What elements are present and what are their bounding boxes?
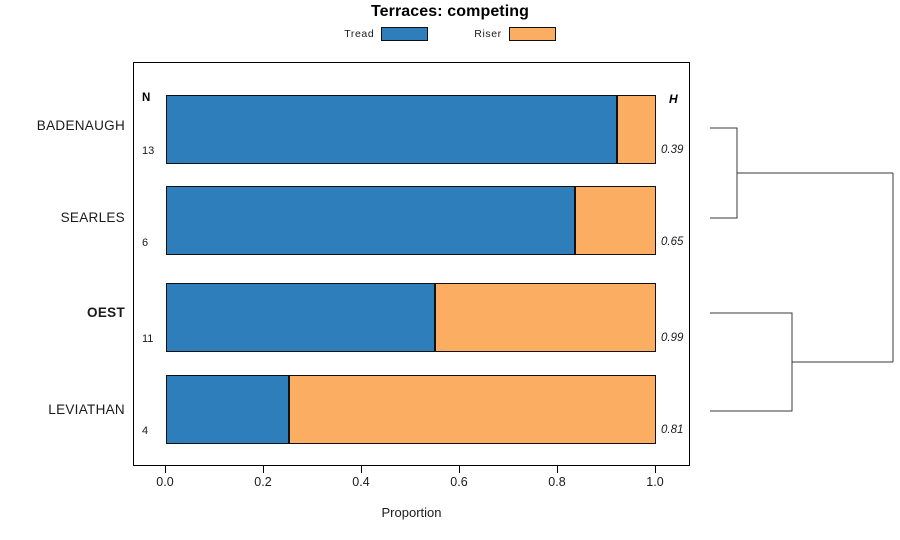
- legend-item-riser: Riser: [474, 27, 556, 41]
- table-row[interactable]: [166, 375, 656, 444]
- legend-swatch-riser: [509, 27, 556, 41]
- tick-mark-0: [165, 466, 166, 473]
- tick-label-2: 0.4: [352, 475, 369, 489]
- category-label-oest: OEST: [0, 305, 125, 320]
- n-value-leviathan: 4: [142, 425, 148, 437]
- category-label-searles: SEARLES: [0, 210, 125, 225]
- tick-label-5: 1.0: [646, 475, 663, 489]
- bar-segment-riser[interactable]: [617, 95, 656, 164]
- bar-segment-riser[interactable]: [575, 186, 656, 255]
- tick-mark-2: [361, 466, 362, 473]
- h-value-leviathan: 0.81: [661, 424, 683, 436]
- table-row[interactable]: [166, 186, 656, 255]
- tick-mark-1: [263, 466, 264, 473]
- dendrogram: [690, 0, 900, 540]
- legend-label-riser: Riser: [474, 28, 502, 40]
- tick-mark-3: [459, 466, 460, 473]
- column-header-h: H: [669, 92, 678, 106]
- dendrogram-branch-oest-leviathan: [710, 313, 792, 411]
- bar-segment-tread[interactable]: [166, 95, 617, 164]
- bar-segment-tread[interactable]: [166, 283, 435, 352]
- tick-label-0: 0.0: [156, 475, 173, 489]
- tick-mark-5: [655, 466, 656, 473]
- category-label-leviathan: LEVIATHAN: [0, 402, 125, 417]
- h-value-oest: 0.99: [661, 332, 683, 344]
- legend-label-tread: Tread: [344, 28, 374, 40]
- h-value-badenaugh: 0.39: [661, 144, 683, 156]
- bar-segment-riser[interactable]: [435, 283, 656, 352]
- n-value-oest: 11: [142, 333, 153, 345]
- legend-swatch-tread: [381, 27, 428, 41]
- tick-label-1: 0.2: [254, 475, 271, 489]
- column-header-n: N: [142, 92, 150, 104]
- table-row[interactable]: [166, 283, 656, 352]
- bar-segment-tread[interactable]: [166, 186, 575, 255]
- dendrogram-branch-badenaugh-searles: [710, 128, 737, 218]
- plot-area: [133, 62, 690, 466]
- h-value-searles: 0.65: [661, 236, 683, 248]
- legend-item-tread: Tread: [344, 27, 428, 41]
- bar-segment-tread[interactable]: [166, 375, 289, 444]
- tick-mark-4: [557, 466, 558, 473]
- chart-canvas: Terraces: competing Tread Riser BAD: [0, 0, 900, 540]
- bar-segment-riser[interactable]: [289, 375, 656, 444]
- table-row[interactable]: [166, 95, 656, 164]
- category-label-badenaugh: BADENAUGH: [0, 118, 125, 133]
- tick-label-4: 0.8: [548, 475, 565, 489]
- n-value-badenaugh: 13: [142, 145, 154, 157]
- tick-label-3: 0.6: [450, 475, 467, 489]
- n-value-searles: 6: [142, 237, 148, 249]
- x-axis-label: Proportion: [133, 505, 690, 520]
